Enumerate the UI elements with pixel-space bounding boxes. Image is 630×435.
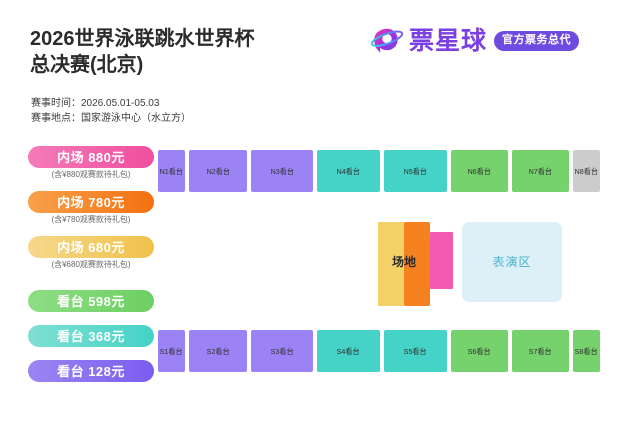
seat-section-label: N3看台 <box>270 167 293 176</box>
seat-section-label: N6看台 <box>468 167 491 176</box>
seat-section[interactable]: S5看台 <box>384 330 447 372</box>
seat-section[interactable]: S2看台 <box>189 330 247 372</box>
seat-section-label: S3看台 <box>271 347 294 356</box>
seat-section-label: N8看台 <box>575 167 598 176</box>
seat-section[interactable]: N5看台 <box>384 150 447 192</box>
seat-section[interactable]: N3看台 <box>251 150 313 192</box>
seat-section-label: S6看台 <box>468 347 491 356</box>
north-stand-row: N1看台N2看台N3看台N4看台N5看台N6看台N7看台N8看台 <box>158 150 600 192</box>
seat-section[interactable]: N6看台 <box>451 150 508 192</box>
field-block: 场地 <box>378 222 453 306</box>
field-strip-880 <box>430 232 453 289</box>
seat-section[interactable]: S3看台 <box>251 330 313 372</box>
seat-section-label: S1看台 <box>160 347 183 356</box>
seat-section-label: S5看台 <box>404 347 427 356</box>
seat-section-label: N5看台 <box>404 167 427 176</box>
field-label: 场地 <box>392 255 416 269</box>
seat-section-label: N4看台 <box>337 167 360 176</box>
seat-section[interactable]: S1看台 <box>158 330 185 372</box>
seat-map: N1看台N2看台N3看台N4看台N5看台N6看台N7看台N8看台 S1看台S2看… <box>0 0 630 435</box>
seat-section-label: S4看台 <box>337 347 360 356</box>
performance-area-label: 表演区 <box>492 255 531 269</box>
seat-section-label: N1看台 <box>160 167 183 176</box>
seat-section-label: S2看台 <box>207 347 230 356</box>
seat-section-label: S7看台 <box>529 347 552 356</box>
seat-section[interactable]: S8看台 <box>573 330 600 372</box>
seatmap-page: 2026世界泳联跳水世界杯 总决赛(北京) 赛事时间：2026.05.01-05… <box>0 0 630 435</box>
seat-section-label: S8看台 <box>575 347 598 356</box>
seat-section[interactable]: N7看台 <box>512 150 569 192</box>
seat-section[interactable]: S6看台 <box>451 330 508 372</box>
seat-section[interactable]: N1看台 <box>158 150 185 192</box>
performance-area: 表演区 <box>462 222 562 302</box>
seat-section[interactable]: N8看台 <box>573 150 600 192</box>
seat-section-label: N7看台 <box>529 167 552 176</box>
seat-section[interactable]: S7看台 <box>512 330 569 372</box>
seat-section[interactable]: N2看台 <box>189 150 247 192</box>
seat-section[interactable]: S4看台 <box>317 330 380 372</box>
south-stand-row: S1看台S2看台S3看台S4看台S5看台S6看台S7看台S8看台 <box>158 330 600 372</box>
seat-section[interactable]: N4看台 <box>317 150 380 192</box>
seat-section-label: N2看台 <box>206 167 229 176</box>
